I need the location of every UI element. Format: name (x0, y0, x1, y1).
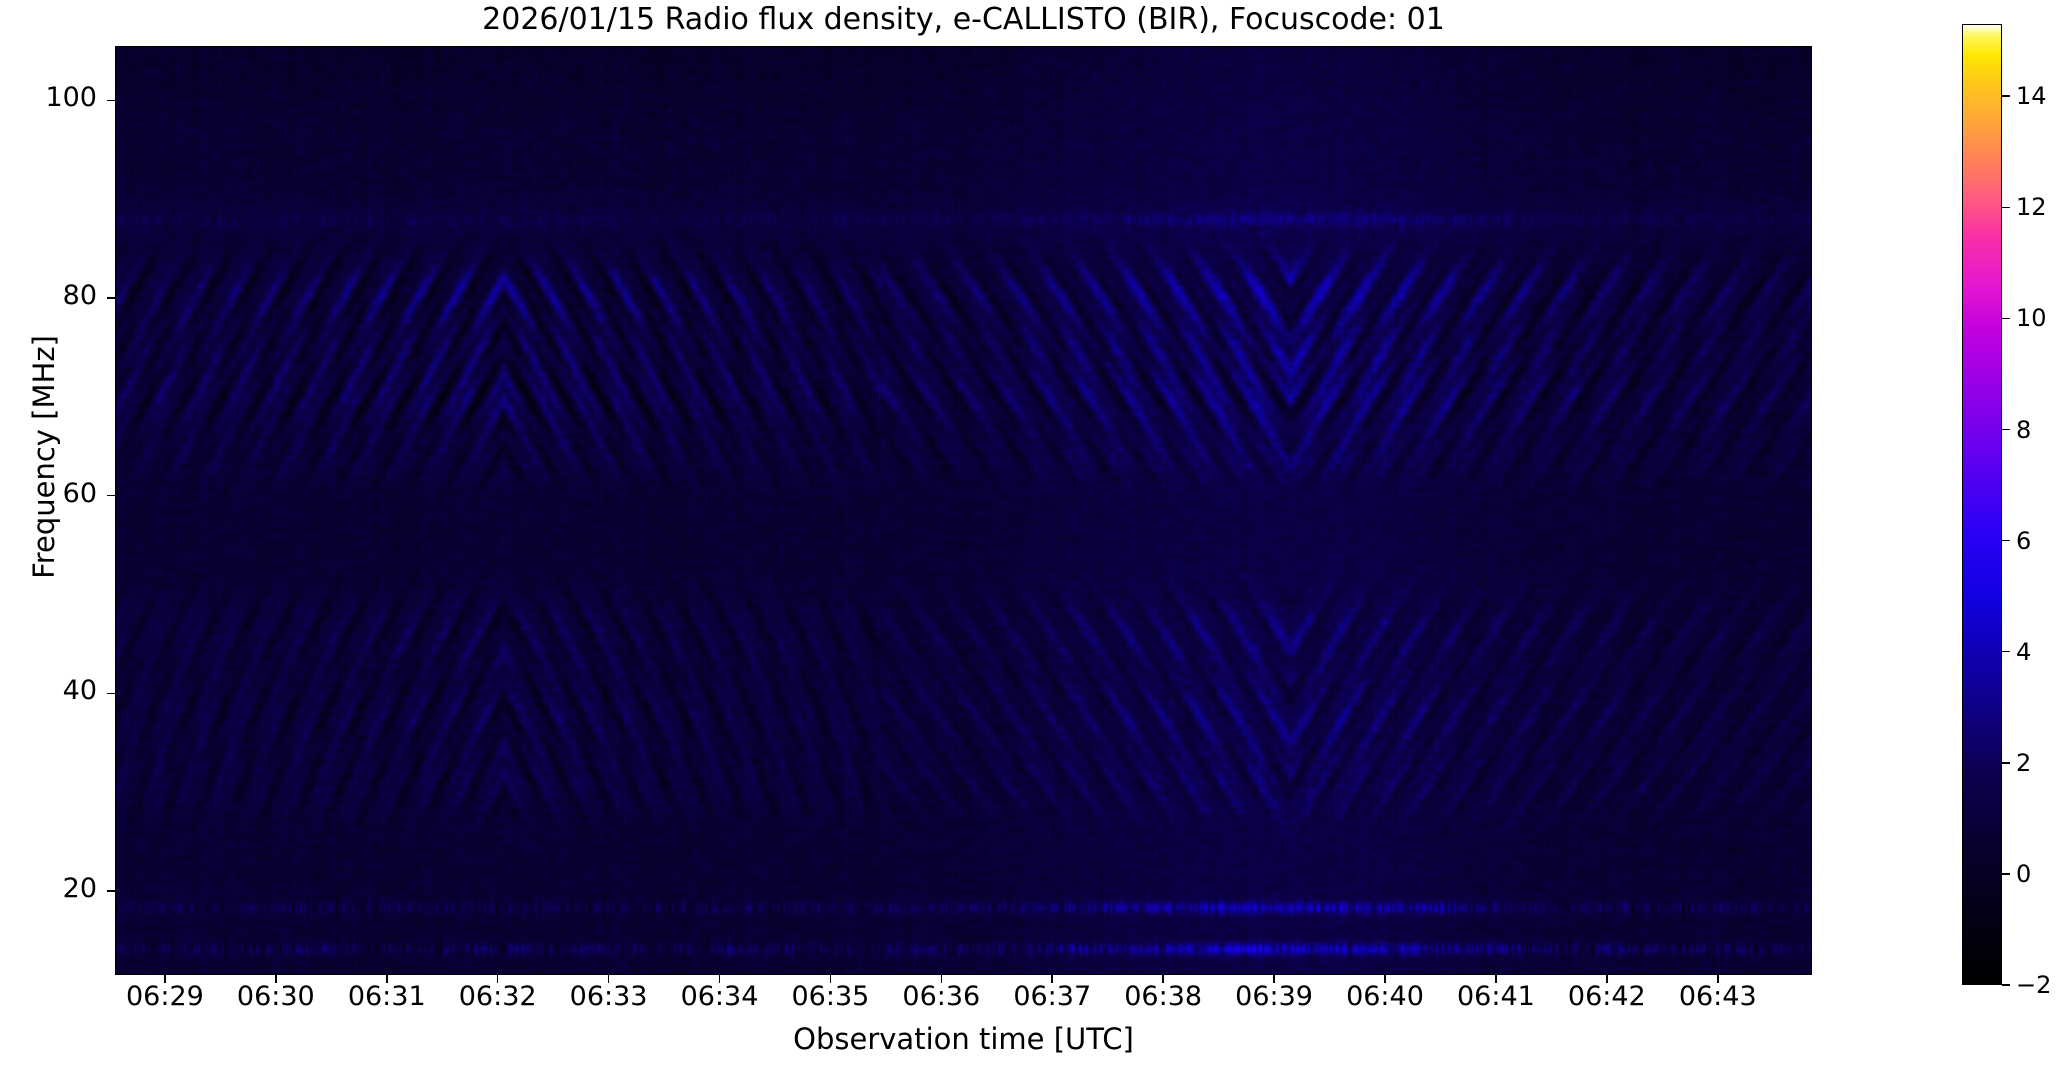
y-tick-mark (107, 100, 115, 102)
colorbar-tick-mark (2002, 540, 2010, 542)
spectrogram-axes[interactable] (115, 46, 1812, 975)
y-tick-label: 60 (0, 478, 97, 509)
y-tick-label: 100 (0, 82, 97, 113)
x-tick-label: 06:42 (1568, 981, 1646, 1012)
y-tick-mark (107, 890, 115, 892)
x-tick-label: 06:33 (570, 981, 648, 1012)
colorbar-tick-label: 10 (2016, 304, 2047, 332)
colorbar-tick-mark (2002, 429, 2010, 431)
x-tick-label: 06:43 (1679, 981, 1757, 1012)
colorbar-tick-mark (2002, 651, 2010, 653)
y-tick-mark (107, 693, 115, 695)
colorbar-gradient (1963, 25, 2001, 984)
colorbar-tick-label: 14 (2016, 82, 2047, 110)
x-tick-label: 06:39 (1235, 981, 1313, 1012)
colorbar-tick-mark (2002, 207, 2010, 209)
colorbar-tick-mark (2002, 318, 2010, 320)
spectrogram-image (116, 47, 1811, 974)
colorbar-tick-mark (2002, 984, 2010, 986)
x-tick-label: 06:40 (1346, 981, 1424, 1012)
x-tick-label: 06:31 (348, 981, 426, 1012)
y-tick-label: 80 (0, 280, 97, 311)
x-tick-label: 06:34 (681, 981, 759, 1012)
colorbar-tick-mark (2002, 95, 2010, 97)
x-tick-label: 06:32 (459, 981, 537, 1012)
colorbar[interactable] (1962, 24, 2002, 985)
figure-canvas: 2026/01/15 Radio flux density, e-CALLIST… (0, 0, 2066, 1067)
colorbar-tick-label: 2 (2016, 749, 2031, 777)
y-tick-mark (107, 297, 115, 299)
x-tick-label: 06:29 (126, 981, 204, 1012)
colorbar-tick-label: 0 (2016, 860, 2031, 888)
x-tick-label: 06:41 (1457, 981, 1535, 1012)
colorbar-tick-label: 6 (2016, 527, 2031, 555)
colorbar-tick-label: −2 (2016, 971, 2051, 999)
x-tick-label: 06:36 (902, 981, 980, 1012)
y-tick-label: 40 (0, 675, 97, 706)
y-tick-mark (107, 495, 115, 497)
page-title: 2026/01/15 Radio flux density, e-CALLIST… (115, 2, 1812, 37)
x-tick-label: 06:38 (1124, 981, 1202, 1012)
colorbar-tick-mark (2002, 762, 2010, 764)
x-axis-label: Observation time [UTC] (115, 1022, 1812, 1056)
y-axis-label: Frequency [MHz] (27, 197, 61, 717)
colorbar-tick-label: 8 (2016, 416, 2031, 444)
x-tick-label: 06:30 (237, 981, 315, 1012)
colorbar-tick-label: 4 (2016, 638, 2031, 666)
y-tick-label: 20 (0, 873, 97, 904)
colorbar-tick-mark (2002, 873, 2010, 875)
x-tick-label: 06:35 (791, 981, 869, 1012)
x-tick-label: 06:37 (1013, 981, 1091, 1012)
colorbar-tick-label: 12 (2016, 193, 2047, 221)
